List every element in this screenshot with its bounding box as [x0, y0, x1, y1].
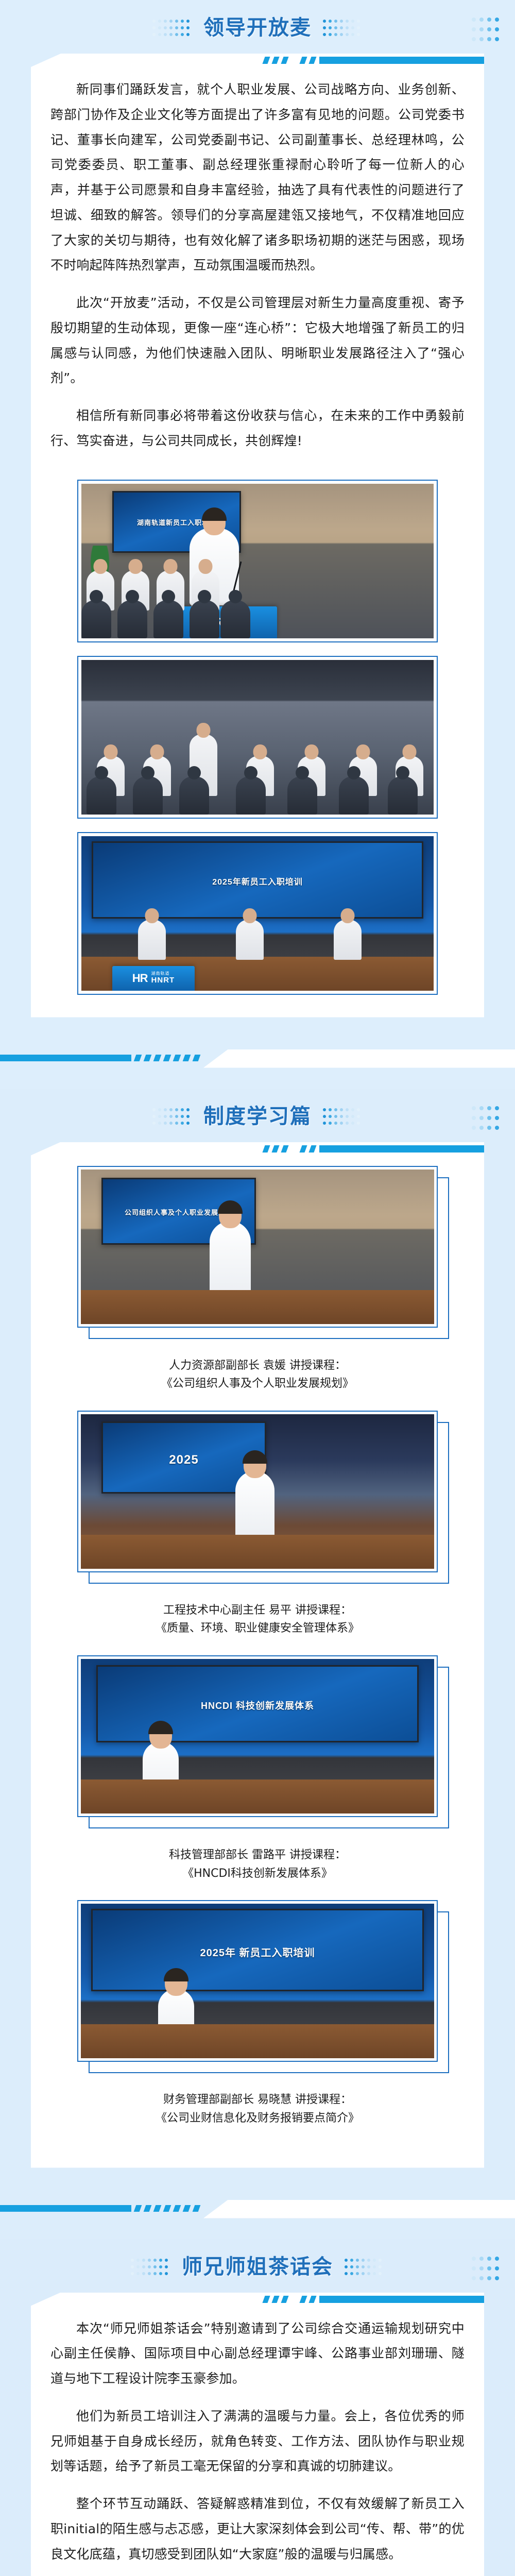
training-photo: 2025年 新员工入职培训 [81, 1904, 434, 2058]
open-mic-photo-2 [81, 660, 434, 815]
article-page: 领导开放麦 新同事们踊跃发言，就个人职业发展、公司战略方向、业务创新、跨部门协作… [0, 0, 515, 2576]
blue-stripe-decoration-icon [31, 2293, 515, 2308]
content-card-senior-tea-party: 本次“师兄师姐茶话会”特别邀请到了公司综合交通运输规划研究中心副主任侯静、国际项… [31, 2293, 484, 2576]
screen-text: 2025 [103, 1453, 265, 1467]
dot-field-right-icon [323, 1106, 363, 1126]
section-divider-stripe-icon [0, 2200, 515, 2218]
training-caption: 人力资源部副部长 袁媛 讲授课程： 《公司组织人事及个人职业发展规划》 [57, 1357, 458, 1393]
section-title: 领导开放麦 [203, 18, 312, 38]
lectern-table [81, 2024, 434, 2058]
screen-text: HNCDI 科技创新发展体系 [98, 1699, 417, 1712]
training-finance: 2025年 新员工入职培训 财务管理部副部长 易晓慧 讲授课程： 《公司业财信息… [50, 1900, 465, 2127]
paragraph: 本次“师兄师姐茶话会”特别邀请到了公司综合交通运输规划研究中心副主任侯静、国际项… [50, 2316, 465, 2392]
caption-line-2: 《HNCDI科技创新发展体系》 [57, 1865, 458, 1883]
caption-line-1: 科技管理部部长 雷路平 讲授课程： [57, 1846, 458, 1865]
dot-field-left-icon [152, 1106, 192, 1126]
caption-line-2: 《质量、环境、职业健康安全管理体系》 [57, 1619, 458, 1638]
lectern-table [81, 1780, 434, 1814]
lectern-table [81, 1290, 434, 1324]
content-card-system-study: 公司组织人事及个人职业发展规划 人力资源部副部长 袁媛 讲授课程： 《公司组织人… [31, 1142, 484, 2168]
training-hr: 公司组织人事及个人职业发展规划 人力资源部副部长 袁媛 讲授课程： 《公司组织人… [50, 1166, 465, 1393]
seat-row [81, 569, 251, 638]
panel-figures [81, 886, 434, 960]
training-caption: 财务管理部副部长 易晓慧 讲授课程： 《公司业财信息化及财务报销要点简介》 [57, 2091, 458, 2127]
paragraph: 整个环节互动踊跃、答疑解惑精准到位，不仅有效缓解了新员工入职initial的陌生… [50, 2492, 465, 2567]
brand-name-en: HNRT [151, 976, 175, 985]
section-senior-tea-party: 师兄师姐茶话会 本次“师兄师姐茶话会”特别邀请到了公司综合交通运输规划研究中心副… [0, 2239, 515, 2576]
photo-frame[interactable]: 2025年 新员工入职培训 [77, 1900, 438, 2062]
section-title: 师兄师姐茶话会 [182, 2257, 333, 2277]
paragraph: 新同事们踊跃发言，就个人职业发展、公司战略方向、业务创新、跨部门协作及企业文化等… [50, 77, 465, 278]
seat-row [81, 745, 434, 815]
speaker-figure [235, 1471, 274, 1538]
training-photo: HNCDI 科技创新发展体系 [81, 1659, 434, 1814]
blue-stripe-decoration-icon [31, 1142, 515, 1158]
dot-field-left-icon [152, 18, 192, 38]
lectern-table [81, 1535, 434, 1569]
section-header-system-study: 制度学习篇 [0, 1089, 515, 1142]
screen-text: 2025年 新员工入职培训 [93, 1944, 422, 1959]
podium-with-logo: HR 湖南轨道 HNRT [112, 966, 195, 991]
section-header-leader-open-mic: 领导开放麦 [0, 0, 515, 54]
projection-screen: 2025年 新员工入职培训 [91, 1909, 424, 1991]
dot-field-left-icon [131, 2257, 170, 2277]
photo-frame[interactable]: 公司组织人事及个人职业发展规划 [77, 1166, 438, 1328]
training-caption: 科技管理部部长 雷路平 讲授课程： 《HNCDI科技创新发展体系》 [57, 1846, 458, 1883]
dot-field-right-icon [323, 18, 363, 38]
open-mic-photo-1: 湖南轨道新员工入职培训 HR 湖南轨道 HNRT [81, 484, 434, 638]
training-photo: 公司组织人事及个人职业发展规划 [81, 1170, 434, 1324]
photo-frame[interactable]: 2025年新员工入职培训 HR 湖南轨道 HNRT [77, 832, 438, 995]
caption-line-1: 工程技术中心副主任 易平 讲授课程： [57, 1601, 458, 1620]
training-engineering: 2025 工程技术中心副主任 易平 讲授课程： 《质量、环境、职业健康安全管理体… [50, 1411, 465, 1638]
dot-field-right-icon [345, 2257, 384, 2277]
paragraph: 此次“开放麦”活动，不仅是公司管理层对新生力量高度重视、寄予殷切期望的生动体现，… [50, 291, 465, 391]
hnrt-logo-mark-icon: HR [132, 973, 148, 984]
section-system-study: 制度学习篇 公司组织人事及个人职业 [0, 1089, 515, 2239]
caption-line-2: 《公司业财信息化及财务报销要点简介》 [57, 2109, 458, 2128]
photo-frame[interactable]: HNCDI 科技创新发展体系 [77, 1655, 438, 1817]
projection-screen: HNCDI 科技创新发展体系 [96, 1665, 419, 1742]
paragraph: 他们为新员工培训注入了满满的温暖与力量。会上，各位优秀的师兄师姐基于自身成长经历… [50, 2404, 465, 2479]
photo-frame[interactable] [77, 656, 438, 819]
training-photo: 2025 [81, 1414, 434, 1569]
training-sci-tech: HNCDI 科技创新发展体系 科技管理部部长 雷路平 讲授课程： 《HNCDI科… [50, 1655, 465, 1883]
photo-frame[interactable]: 湖南轨道新员工入职培训 HR 湖南轨道 HNRT [77, 480, 438, 642]
caption-line-1: 人力资源部副部长 袁媛 讲授课程： [57, 1357, 458, 1375]
speaker-figure [210, 1221, 251, 1293]
section-title: 制度学习篇 [203, 1106, 312, 1127]
open-mic-photo-3: 2025年新员工入职培训 HR 湖南轨道 HNRT [81, 836, 434, 991]
blue-stripe-decoration-icon [31, 54, 515, 69]
section-divider-stripe-icon [0, 1049, 515, 1068]
section-header-senior-tea-party: 师兄师姐茶话会 [0, 2239, 515, 2293]
photo-gallery-open-mic: 湖南轨道新员工入职培训 HR 湖南轨道 HNRT [50, 477, 465, 995]
photo-frame[interactable]: 2025 [77, 1411, 438, 1572]
paragraph: 相信所有新同事必将带着这份收获与信心，在未来的工作中勇毅前行、笃实奋进，与公司共… [50, 403, 465, 454]
caption-line-2: 《公司组织人事及个人职业发展规划》 [57, 1375, 458, 1393]
caption-line-1: 财务管理部副部长 易晓慧 讲授课程： [57, 2091, 458, 2109]
training-caption: 工程技术中心副主任 易平 讲授课程： 《质量、环境、职业健康安全管理体系》 [57, 1601, 458, 1638]
content-card-leader-open-mic: 新同事们踊跃发言，就个人职业发展、公司战略方向、业务创新、跨部门协作及企业文化等… [31, 54, 484, 1018]
section-leader-open-mic: 领导开放麦 新同事们踊跃发言，就个人职业发展、公司战略方向、业务创新、跨部门协作… [0, 0, 515, 1089]
